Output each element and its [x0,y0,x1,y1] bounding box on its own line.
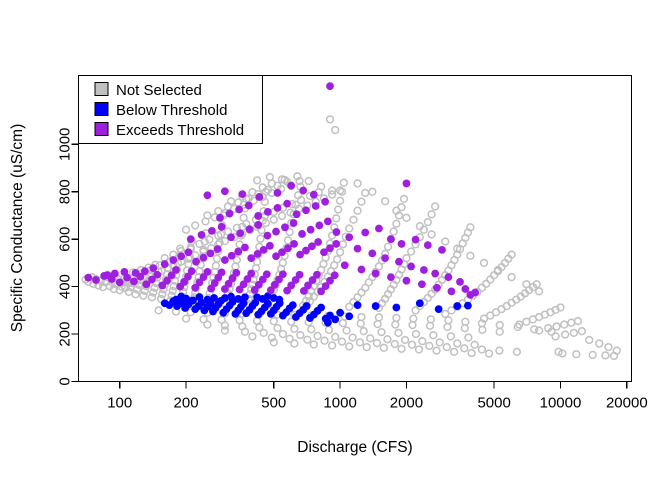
data-point [398,240,406,248]
x-tick-label: 5000 [477,395,510,412]
data-point [200,254,208,262]
data-point [332,240,340,248]
data-point [312,202,320,210]
data-point [241,244,249,252]
data-point [424,241,432,249]
data-point [361,229,369,237]
data-point [336,309,344,317]
data-point [196,293,204,301]
x-axis-title: Discharge (CFS) [297,439,412,456]
data-point [293,210,301,218]
data-point [403,277,411,285]
data-point [234,295,242,303]
data-point [287,182,295,190]
data-point [438,246,446,254]
data-point [433,284,441,292]
data-point [169,256,177,264]
data-point [283,200,291,208]
data-point [448,287,456,295]
data-point [418,280,426,288]
data-point [187,235,195,243]
data-point [218,223,226,231]
data-point [321,198,329,206]
data-point [412,236,420,244]
data-point [188,267,196,275]
data-point [345,233,353,241]
x-tick-label: 500 [261,395,286,412]
data-point [302,206,310,214]
data-point [227,233,235,241]
data-point [121,268,129,276]
data-point [315,222,323,230]
blue-swatch [95,103,108,116]
data-point [172,266,180,274]
data-point [368,250,376,258]
data-point [387,273,395,281]
data-point [210,294,218,302]
data-point [387,235,395,243]
data-point [456,278,464,286]
data-point [324,319,332,327]
data-point [245,202,253,210]
data-point [372,302,380,310]
data-point [453,302,461,310]
y-axis-title: Specific Conductance (uS/cm) [9,124,26,332]
legend-item-label: Not Selected [116,82,202,99]
data-point [317,304,325,312]
data-point [153,271,161,279]
data-point [358,266,366,274]
purple-swatch [95,123,108,136]
data-point [326,82,334,90]
data-point [198,231,206,239]
data-point [247,270,255,278]
data-point [241,293,249,301]
data-point [341,261,349,269]
data-point [354,245,362,253]
data-point [185,248,193,256]
data-point [274,204,282,212]
data-point [132,269,140,277]
data-point [130,278,138,286]
data-point [471,289,479,297]
data-point [254,212,262,220]
y-tick-label: 800 [57,179,74,204]
data-point [218,268,226,276]
data-point [392,304,400,312]
data-point [307,226,315,234]
data-point [264,208,272,216]
data-point [345,312,353,320]
data-point [324,217,332,225]
x-tick-label: 20000 [606,395,648,412]
data-point [238,190,246,198]
data-point [331,315,339,323]
data-point [111,270,119,278]
data-point [207,250,215,258]
x-tick-label: 200 [174,395,199,412]
data-point [407,263,415,271]
data-point [289,301,297,309]
data-point [298,230,306,238]
data-point [464,302,472,310]
data-point [290,219,298,227]
data-point [263,270,271,278]
legend-item-label: Below Threshold [116,102,227,119]
data-point [104,271,112,279]
data-point [149,264,157,272]
y-tick-label: 0 [57,377,74,385]
data-point [235,206,243,214]
data-point [232,269,240,277]
data-point [204,296,212,304]
y-tick-label: 400 [57,274,74,299]
legend[interactable]: Not SelectedBelow ThresholdExceeds Thres… [79,76,263,144]
data-point [299,187,307,195]
data-point [246,225,254,233]
y-tick-label: 1000 [57,128,74,161]
data-point [381,254,389,262]
data-point [234,248,242,256]
data-point [177,252,185,260]
data-point [372,270,380,278]
data-point [395,258,403,266]
data-point [254,221,262,229]
data-point [192,258,200,266]
data-point [236,229,244,237]
data-point [221,256,229,264]
data-point [208,227,216,235]
data-point [420,266,428,274]
data-point [228,252,236,260]
y-tick-label: 200 [57,322,74,347]
scatter-plot-figure: 1002005001000200050001000020000 02004006… [0,0,672,480]
data-point [161,260,169,268]
data-point [204,268,212,276]
data-point [264,232,272,240]
data-point [313,271,321,279]
data-point [403,180,411,188]
data-point [141,267,149,275]
data-point [204,191,212,199]
data-point [274,189,282,197]
data-point [333,228,341,236]
data-point [310,191,318,199]
data-point [354,301,362,309]
data-point [216,214,224,222]
data-point [375,225,383,233]
data-point [435,305,443,313]
x-tick-label: 10000 [540,395,582,412]
data-point [221,187,229,195]
gray-swatch [95,83,108,96]
data-point [227,293,235,301]
data-point [296,271,304,279]
data-point [279,270,287,278]
legend-item-label: Exceeds Threshold [116,122,244,139]
data-point [214,245,222,253]
data-point [226,210,234,218]
data-point [272,228,280,236]
data-point [431,270,439,278]
data-point [84,274,92,282]
data-point [266,242,274,250]
data-point [445,273,453,281]
y-tick-label: 600 [57,227,74,252]
data-point [314,238,322,246]
x-tick-label: 100 [107,395,132,412]
data-point [255,193,263,201]
data-point [92,276,100,284]
data-point [461,285,469,293]
data-point [177,293,185,301]
data-point [275,296,283,304]
data-point [116,278,124,286]
data-point [281,223,289,231]
data-point [303,302,311,310]
data-point [331,271,339,279]
x-tick-label: 1000 [323,395,356,412]
x-tick-label: 2000 [390,395,423,412]
data-point [416,299,424,307]
data-point [247,254,255,262]
data-point [290,240,298,248]
plot-svg: 1002005001000200050001000020000 02004006… [0,0,672,480]
